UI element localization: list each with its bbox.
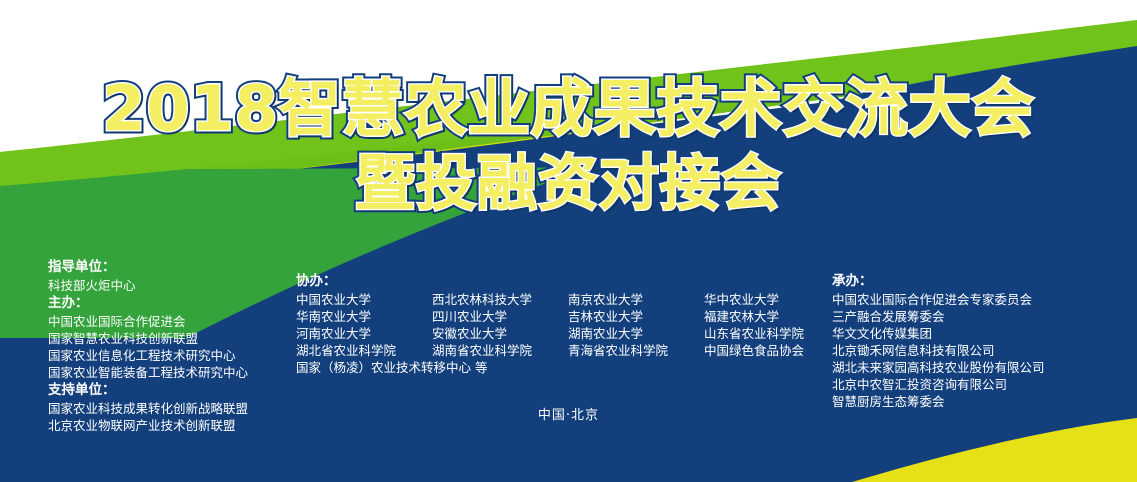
coorganizer-item: 青海省农业科学院 [568, 342, 704, 359]
organizer-item: 湖北未来家园高科技农业股份有限公司 [832, 359, 1045, 376]
coorganizer-item: 西北农林科技大学 [432, 291, 568, 308]
organizer-item: 北京中农智汇投资咨询有限公司 [832, 376, 1045, 393]
coorganizer-tail-item: 国家（杨凌）农业技术转移中心 等 [296, 359, 840, 376]
coorganizer-item: 四川农业大学 [432, 308, 568, 325]
credits-column-organizers: 承办： 中国农业国际合作促进会专家委员会 三产融合发展筹委会 华文文化传媒集团 … [832, 272, 1045, 410]
event-location: 中国·北京 [0, 404, 1137, 423]
organizer-heading: 承办： [832, 272, 1045, 291]
coorganizer-item: 福建农林大学 [704, 308, 840, 325]
host-item: 国家智慧农业科技创新联盟 [48, 330, 248, 347]
event-banner: 2018智慧农业成果技术交流大会 2018智慧农业成果技术交流大会 2018智慧… [0, 0, 1137, 482]
coorganizer-grid: 中国农业大学 西北农林科技大学 南京农业大学 华中农业大学 华南农业大学 四川农… [296, 291, 840, 359]
host-item: 中国农业国际合作促进会 [48, 313, 248, 330]
host-heading: 主办： [48, 294, 248, 313]
organizer-item: 中国农业国际合作促进会专家委员会 [832, 291, 1045, 308]
coorganizer-heading: 协办： [296, 272, 840, 291]
guidance-item: 科技部火炬中心 [48, 277, 248, 294]
organizer-item: 北京锄禾网信息科技有限公司 [832, 342, 1045, 359]
coorganizer-item: 华中农业大学 [704, 291, 840, 308]
coorganizer-item: 山东省农业科学院 [704, 325, 840, 342]
coorganizer-item: 河南农业大学 [296, 325, 432, 342]
coorganizer-item: 湖南农业大学 [568, 325, 704, 342]
organizer-item: 华文文化传媒集团 [832, 325, 1045, 342]
support-heading: 支持单位： [48, 381, 248, 400]
coorganizer-item: 中国农业大学 [296, 291, 432, 308]
coorganizer-item: 华南农业大学 [296, 308, 432, 325]
coorganizer-item: 南京农业大学 [568, 291, 704, 308]
organizer-item: 三产融合发展筹委会 [832, 308, 1045, 325]
coorganizer-item: 湖南省农业科学院 [432, 342, 568, 359]
host-item: 国家农业智能装备工程技术研究中心 [48, 364, 248, 381]
coorganizer-item: 湖北省农业科学院 [296, 342, 432, 359]
credits-column-coorganizers: 协办： 中国农业大学 西北农林科技大学 南京农业大学 华中农业大学 华南农业大学… [296, 272, 840, 376]
guidance-heading: 指导单位： [48, 258, 248, 277]
coorganizer-item: 吉林农业大学 [568, 308, 704, 325]
coorganizer-item: 中国绿色食品协会 [704, 342, 840, 359]
host-item: 国家农业信息化工程技术研究中心 [48, 347, 248, 364]
coorganizer-item: 安徽农业大学 [432, 325, 568, 342]
